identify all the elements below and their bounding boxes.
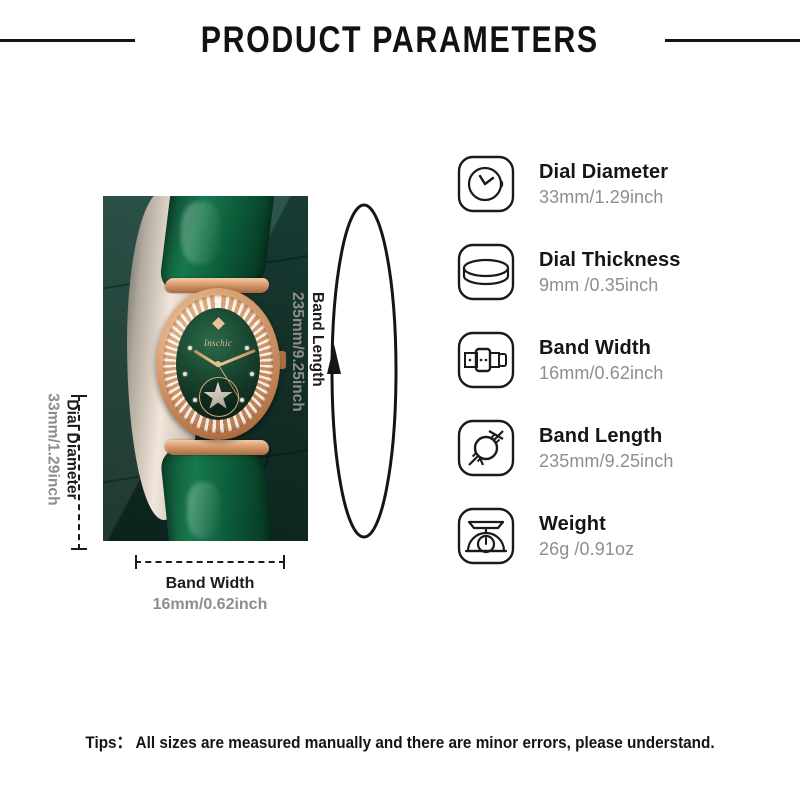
product-photo: Inschic — [103, 196, 308, 541]
watch-case: Inschic — [156, 288, 280, 440]
band-length-callout: Band Length 235mm/9.25inch — [318, 196, 410, 546]
kitchen-scale-icon — [455, 505, 517, 567]
band-width-callout: Band Width 16mm/0.62inch — [135, 555, 285, 614]
spec-label: Band Length — [539, 425, 673, 449]
spec-value: 16mm/0.62inch — [539, 363, 663, 385]
spec-row-dial-diameter: Dial Diameter 33mm/1.29inch — [455, 140, 785, 228]
dial-center-pin — [215, 361, 221, 367]
spec-value: 26g /0.91oz — [539, 539, 634, 561]
spec-list: Dial Diameter 33mm/1.29inch Dial Thickne… — [455, 140, 785, 580]
dial-marker-12 — [212, 317, 225, 330]
band-width-callout-label: Band Width — [135, 575, 285, 593]
spec-value: 235mm/9.25inch — [539, 451, 673, 473]
spec-label: Dial Thickness — [539, 249, 680, 273]
strap-buckle-icon — [455, 329, 517, 391]
page-title: PRODUCT PARAMETERS — [201, 19, 599, 61]
watch-diagonal-icon — [455, 417, 517, 479]
band-length-callout-value: 235mm/9.25inch — [288, 292, 306, 502]
spec-row-band-width: Band Width 16mm/0.62inch — [455, 316, 785, 404]
dial-marker — [193, 398, 197, 402]
spec-label: Dial Diameter — [539, 161, 668, 185]
spec-row-dial-thickness: Dial Thickness 9mm /0.35inch — [455, 228, 785, 316]
tips-note: Tips： All sizes are measured manually an… — [40, 728, 760, 753]
dimension-line-horizontal — [135, 561, 285, 563]
band-width-callout-value: 16mm/0.62inch — [135, 596, 285, 614]
header-rule-right — [665, 39, 800, 42]
watch-dial-icon — [455, 153, 517, 215]
dial-diameter-callout-value: 33mm/1.29inch — [44, 375, 62, 525]
dial-marker — [250, 372, 254, 376]
dimension-cap-bottom — [71, 548, 87, 550]
header-rule-left — [0, 39, 135, 42]
product-visual-section: Dial Diameter 33mm/1.29inch — [0, 110, 430, 650]
dimension-cap-right — [283, 555, 285, 569]
band-length-callout-label: Band Length — [308, 292, 326, 502]
dial-marker — [183, 372, 187, 376]
dial-brand-text: Inschic — [176, 338, 260, 348]
page-header: PRODUCT PARAMETERS — [0, 14, 800, 66]
strap-gloss-highlight — [181, 202, 221, 264]
minute-hand — [218, 349, 256, 366]
watch-dial: Inschic — [176, 308, 260, 420]
dial-diameter-callout: Dial Diameter 33mm/1.29inch — [36, 395, 92, 550]
strap-gloss-highlight — [187, 482, 221, 538]
spec-value: 33mm/1.29inch — [539, 187, 668, 209]
watch-lug-bottom — [164, 440, 270, 455]
dial-diameter-callout-label: Dial Diameter — [63, 375, 81, 525]
dial-marker — [240, 398, 244, 402]
band-loop-arrowhead — [327, 344, 341, 374]
spec-value: 9mm /0.35inch — [539, 275, 680, 297]
spec-row-band-length: Band Length 235mm/9.25inch — [455, 404, 785, 492]
spec-row-weight: Weight 26g /0.91oz — [455, 492, 785, 580]
spec-label: Band Width — [539, 337, 663, 361]
disc-thickness-icon — [455, 241, 517, 303]
band-loop-icon — [318, 196, 410, 546]
spec-label: Weight — [539, 513, 634, 537]
